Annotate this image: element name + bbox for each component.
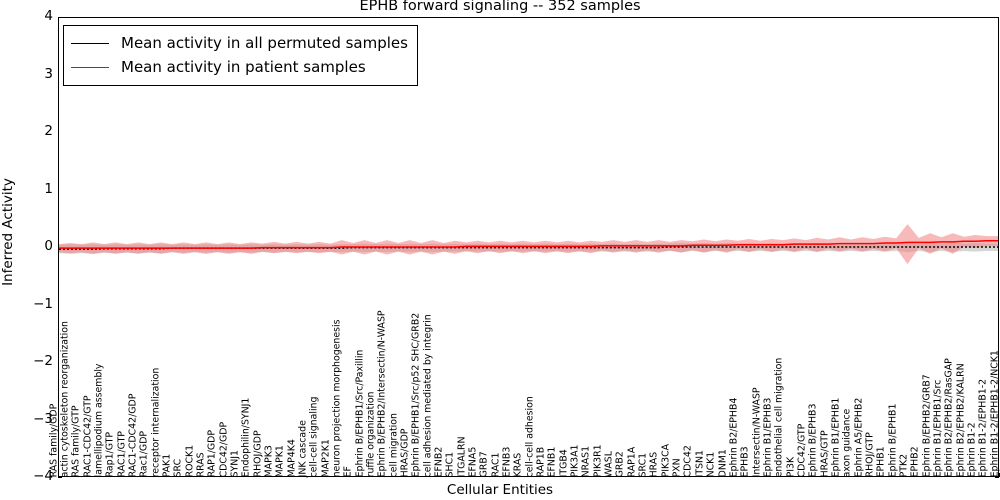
legend-item-patient: Mean activity in patient samples: [71, 55, 408, 79]
x-tick-label: cell-cell adhesion: [525, 396, 534, 477]
x-tick-label: axon guidance: [843, 408, 852, 477]
x-tick-label: PAK1: [163, 453, 172, 477]
legend-swatch-patient: [71, 67, 109, 68]
y-tick-label: −1: [5, 296, 53, 312]
x-tick-label: CDC42/GDP: [219, 421, 228, 477]
x-tick-label: RHOJ/GTP: [865, 432, 874, 477]
x-tick-label: PIK3CA: [661, 444, 670, 478]
x-tick-label: cell-cell signaling: [310, 396, 319, 477]
x-tick-label: EFNB3: [503, 446, 512, 477]
x-tick-label: actin cytoskeleton reorganization: [61, 321, 70, 477]
x-tick-label: Ephrin B1-2/EPHB1-2: [979, 379, 988, 477]
x-tick-label: CDC42/GTP: [797, 423, 806, 477]
x-tick-label: PI3K: [786, 456, 795, 477]
y-tick-label: 3: [5, 66, 53, 82]
x-tick-label: Ephrin B/EPHB2/GRB7: [922, 374, 931, 477]
x-tick-label: Ephrin B1/EPHB1: [831, 397, 840, 477]
x-tick-label: PIK3A1: [571, 444, 580, 477]
x-tick-label: EPHB2: [911, 446, 920, 477]
x-tick-label: ITGB4: [559, 449, 568, 477]
x-axis-label: Cellular Entities: [0, 482, 1000, 498]
x-tick-label: HRAS/GDP: [401, 428, 410, 477]
legend-label-permuted: Mean activity in all permuted samples: [121, 34, 408, 52]
x-tick-label: PXN: [673, 458, 682, 477]
x-tick-label: GRB2: [616, 451, 625, 477]
x-tick-label: EFNA5: [469, 446, 478, 477]
x-tick-label: Ephrin B/EPHB3: [809, 403, 818, 477]
x-tick-label: MAPK3: [265, 445, 274, 477]
x-tick-label: Endophilin/SYNJ1: [242, 397, 251, 477]
x-tick-label: EPHB3: [741, 446, 750, 477]
x-tick-label: EF: [344, 466, 353, 477]
x-tick-label: WASL: [605, 451, 614, 477]
x-tick-label: MAP4K4: [287, 439, 296, 477]
legend-label-patient: Mean activity in patient samples: [121, 58, 366, 76]
chart-figure: EPHB forward signaling -- 352 samples In…: [0, 0, 1000, 500]
y-tick-label: −4: [5, 468, 53, 484]
x-tick-label: Ephrin B/EPHB1/Src/p52 SHC/GRB2: [412, 312, 421, 477]
x-tick-label: PIK3R1: [593, 444, 602, 477]
x-tick-label: EPHB1: [877, 446, 886, 477]
legend-swatch-permuted: [71, 43, 109, 44]
x-tick-label: Ephrin B2/EPHB2/RasGAP: [945, 358, 954, 477]
x-tick-label: MAP2K1: [321, 439, 330, 477]
x-tick-label: RAC1: [491, 452, 500, 477]
x-tick-label: receptor internalization: [151, 367, 160, 477]
x-tick-label: Ephrin B1/EPHB1/Src: [934, 379, 943, 477]
x-tick-label: Ephrin B2/EPHB2/KALRN: [956, 363, 965, 477]
x-tick-label: SHC1: [446, 451, 455, 477]
x-tick-label: ITSN1: [695, 450, 704, 477]
legend-item-permuted: Mean activity in all permuted samples: [71, 31, 408, 55]
x-tick-label: HRAS: [650, 451, 659, 477]
x-tick-label: Ephrin A5/EPHB2: [854, 397, 863, 477]
x-tick-label: Ephrin B2/EPHB4: [729, 397, 738, 477]
y-tick-label: 4: [5, 8, 53, 24]
x-tick-label: EFNB2: [435, 446, 444, 477]
x-tick-label: CDC42: [684, 445, 693, 477]
x-tick-label: Rap1/GTP: [106, 432, 115, 477]
x-tick-label: cell adhesion mediated by integrin: [423, 314, 432, 477]
x-tick-label: Ephrin B1-2: [968, 422, 977, 477]
chart-legend: Mean activity in all permuted samples Me…: [63, 25, 418, 86]
x-tick-label: neuron projection morphogenesis: [333, 319, 342, 477]
x-tick-label: ROCK1: [185, 444, 194, 477]
x-tick-label: RRAS: [197, 452, 206, 477]
x-tick-label: lamellipodium assembly: [95, 363, 104, 477]
x-tick-label: Ephrin B1-2/EPHB1-2/NCK1: [990, 350, 999, 477]
x-tick-label: ITGALRN: [457, 436, 466, 477]
x-tick-label: Intersectin/N-WASP: [752, 387, 761, 477]
x-tick-label: RAC1-CDC42/GDP: [129, 393, 138, 477]
y-tick-label: 0: [5, 238, 53, 254]
x-tick-label: Rac1/GDP: [140, 431, 149, 477]
x-tick-label: JNK cascade: [299, 420, 308, 477]
x-tick-label: RAS family/GDP: [49, 403, 58, 477]
x-tick-label: ruffle organization: [367, 391, 376, 477]
y-tick-label: −2: [5, 353, 53, 369]
x-tick-label: NRAS1: [582, 446, 591, 477]
x-tick-label: PTK2: [899, 454, 908, 478]
x-tick-label: Ephrin B/EPHB1/Src/Paxillin: [355, 349, 364, 477]
x-tick-label: RAC1/GTP: [117, 431, 126, 477]
x-tick-label: KRAS: [514, 452, 523, 477]
x-tick-label: NCK1: [707, 451, 716, 477]
x-tick-label: RAP1A: [627, 446, 636, 477]
x-tick-label: DNM1: [718, 449, 727, 477]
x-tick-label: cell migration: [389, 413, 398, 477]
x-tick-label: Ephrin B/EPHB1: [888, 403, 897, 477]
x-tick-label: SRC: [174, 458, 183, 477]
x-tick-label: RAP1B: [537, 446, 546, 477]
x-tick-label: EFNB1: [548, 446, 557, 477]
x-tick-label: HRAS/GTP: [820, 430, 829, 477]
chart-title: EPHB forward signaling -- 352 samples: [0, 0, 1000, 14]
x-tick-label: SRC1: [639, 452, 648, 477]
x-tick-label: MAPK1: [276, 445, 285, 477]
x-tick-label: SYNJ1: [231, 450, 240, 477]
x-tick-label: GRB7: [480, 451, 489, 477]
x-tick-label: Ephrin B1/EPHB3: [763, 397, 772, 477]
y-tick-label: 1: [5, 181, 53, 197]
x-tick-label: RHOJ/GDP: [253, 430, 262, 477]
x-tick-label: RAC1-CDC42/GTP: [83, 395, 92, 477]
x-tick-label: RAS family/GTP: [72, 405, 81, 477]
x-tick-label: Ephrin B/EPHB2/Intersectin/N-WASP: [378, 310, 387, 477]
y-tick-label: 2: [5, 123, 53, 139]
x-tick-label: RAP1/GDP: [208, 430, 217, 477]
x-tick-label: endothelial cell migration: [775, 357, 784, 477]
y-tick-label: −3: [5, 411, 53, 427]
